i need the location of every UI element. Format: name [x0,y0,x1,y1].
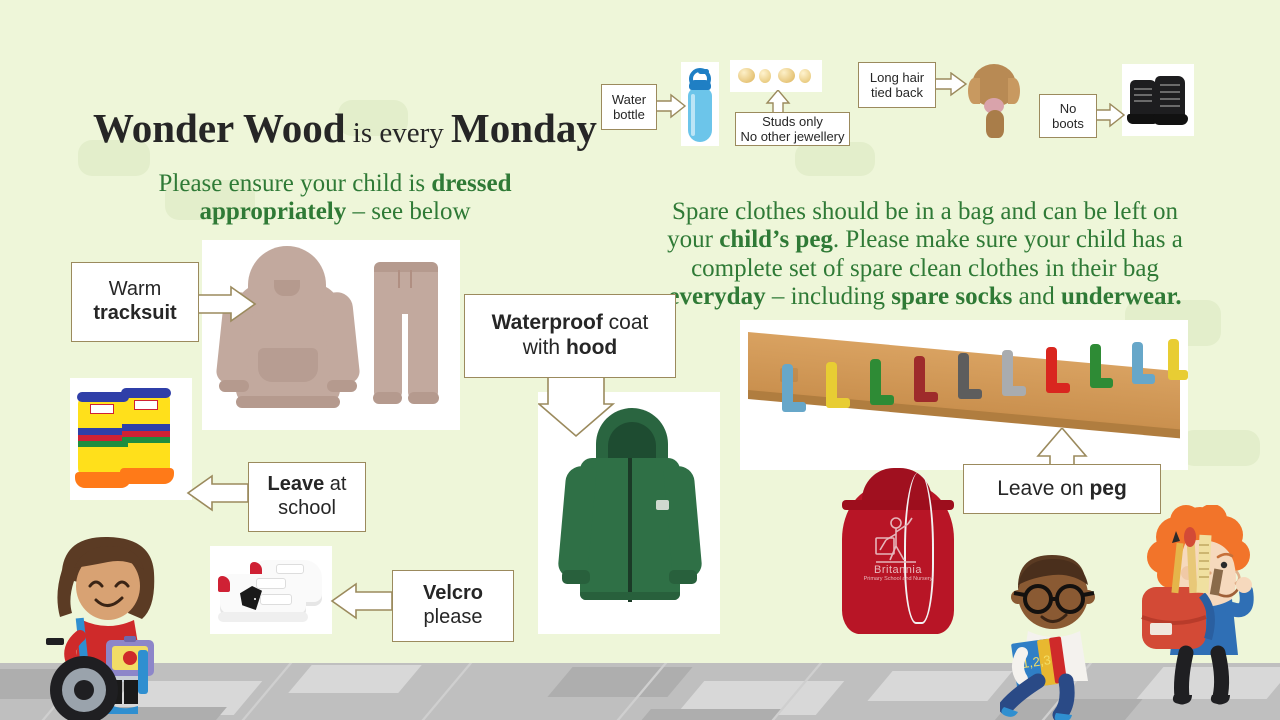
leave-peg-bold: peg [1089,477,1126,500]
tracksuit-photo [202,240,460,430]
coat-plain-1: coat [603,311,649,334]
arrow-waterproof-coat [538,376,616,438]
coat-plain-2: with [523,336,566,359]
no-boots-line2: boots [1052,116,1084,131]
no-boots-callout[interactable]: Noboots [1039,94,1097,138]
leave-peg-plain: Leave on [997,477,1089,500]
arrow-water-bottle [655,93,687,121]
subtitle-bold-appropriately: appropriately [199,198,346,225]
boy-with-books: 1,2,3 [1000,545,1130,720]
subtitle-plain-2: – see below [346,198,470,225]
stud-earrings-photo [730,60,822,92]
leave-school-plain: at [324,473,346,495]
arrow-warm-tracksuit [197,285,257,323]
wellies-photo [70,378,192,500]
warm-tracksuit-line1: Warm [109,278,162,300]
title-bold-2: Monday [451,105,597,151]
coat-bold-2: hood [566,336,617,359]
studs-line2: No other jewellery [740,129,844,144]
arrow-velcro [330,582,394,620]
peg-rail-photo [740,320,1188,470]
leave-school-line2: school [278,497,336,519]
background-blob [1180,430,1260,466]
bag-school-name: Britannia [862,564,934,576]
arrow-leave-at-school [186,474,250,512]
boy-with-backpack [1120,505,1270,720]
coat-bold-1: Waterproof [492,311,603,334]
water-bottle-line2: bottle [613,107,645,122]
ponytail-photo [962,62,1024,140]
long-hair-line2: tied back [871,85,923,100]
girl-in-wheelchair [20,530,200,720]
subtitle-bold-dressed: dressed [431,170,511,197]
arrow-no-boots [1095,103,1125,129]
arrow-long-hair [934,72,968,98]
long-hair-callout[interactable]: Long hairtied back [858,62,936,108]
trainers-photo [210,546,332,634]
pe-bag-photo: Britannia Primary School and Nursery [818,456,978,648]
spare-clothes-text: Spare clothes should be in a bag and can… [667,198,1183,310]
bag-school-sub: Primary School and Nursery [862,576,934,582]
studs-line1: Studs only [762,114,823,129]
studs-callout[interactable]: Studs onlyNo other jewellery [735,112,850,146]
slide-canvas: Wonder Wood is every Monday Please ensur… [0,0,1280,720]
bag-logo: Britannia Primary School and Nursery [862,564,934,582]
velcro-line2: please [424,606,483,628]
background-blob [795,142,875,176]
water-bottle-line1: Water [612,92,646,107]
leave-at-school-callout[interactable]: Leave atschool [248,462,366,532]
velcro-line1: Velcro [423,582,483,604]
waterproof-coat-callout[interactable]: Waterproof coatwith hood [464,294,676,378]
leave-school-bold: Leave [268,473,325,495]
page-title: Wonder Wood is every Monday [93,104,597,152]
warm-tracksuit-line2: tracksuit [93,302,176,324]
no-boots-line1: No [1060,101,1077,116]
velcro-callout[interactable]: Velcroplease [392,570,514,642]
title-bold-1: Wonder Wood [93,105,346,151]
warm-tracksuit-callout[interactable]: Warmtracksuit [71,262,199,342]
subtitle: Please ensure your child is dressed appr… [95,170,575,227]
long-hair-line1: Long hair [870,70,924,85]
leave-on-peg-callout[interactable]: Leave on peg [963,464,1161,514]
title-normal: is every [346,117,452,149]
spare-clothes-paragraph: Spare clothes should be in a bag and can… [660,198,1190,311]
water-bottle-callout[interactable]: Waterbottle [601,84,657,130]
subtitle-plain-1: Please ensure your child is [159,170,432,197]
black-boots-photo [1122,64,1194,136]
